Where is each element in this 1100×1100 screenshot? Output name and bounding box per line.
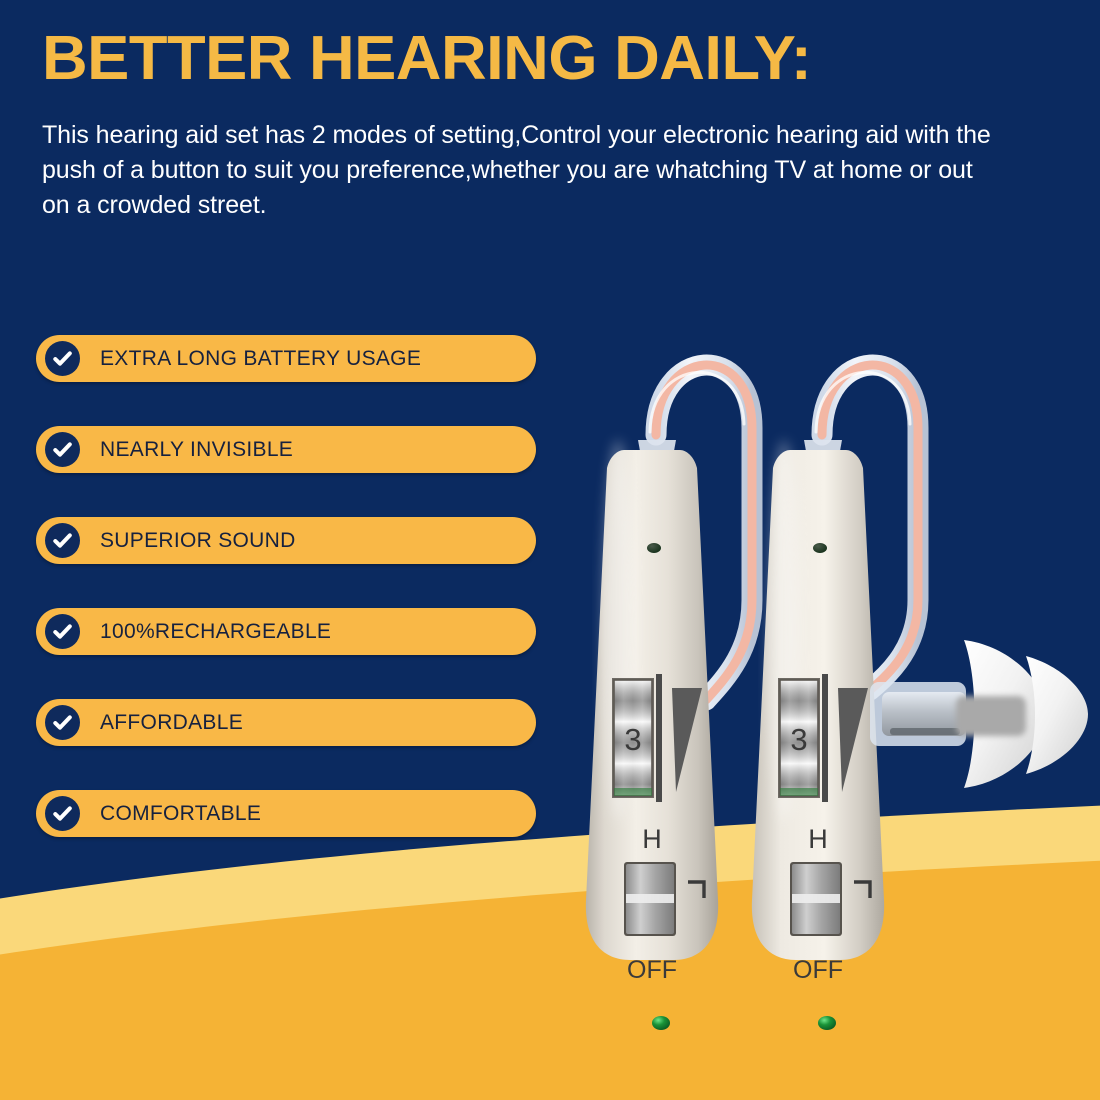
feature-pill-label: SUPERIOR SOUND (100, 529, 296, 553)
feature-pill-label: 100%RECHARGEABLE (100, 620, 331, 644)
feature-pill-label: NEARLY INVISIBLE (100, 438, 293, 462)
page-description: This hearing aid set has 2 modes of sett… (42, 118, 1002, 223)
microphone-port-icon (647, 543, 661, 553)
dome-inner (1026, 656, 1088, 774)
green-led-icon (652, 1016, 670, 1030)
check-icon (45, 432, 80, 467)
switch-label-h: H (642, 824, 662, 854)
check-icon (45, 341, 80, 376)
switch-label-off: OFF (627, 956, 677, 984)
microphone-port-icon (813, 543, 827, 553)
product-image: 3 H OFF (540, 300, 1100, 1040)
feature-pill-invisible: NEARLY INVISIBLE (36, 426, 536, 473)
check-icon (45, 705, 80, 740)
hearing-aid-device-left: 3 H OFF (586, 365, 752, 1030)
volume-level-value: 3 (624, 722, 641, 757)
feature-pill-battery: EXTRA LONG BATTERY USAGE (36, 335, 536, 382)
green-led-icon (818, 1016, 836, 1030)
feature-list: EXTRA LONG BATTERY USAGE NEARLY INVISIBL… (36, 335, 536, 837)
feature-pill-label: EXTRA LONG BATTERY USAGE (100, 347, 421, 371)
feature-pill-sound: SUPERIOR SOUND (36, 517, 536, 564)
switch-label-h: H (808, 824, 828, 854)
page-title: BETTER HEARING DAILY: (42, 28, 811, 90)
product-marketing-poster: BETTER HEARING DAILY: This hearing aid s… (0, 0, 1100, 1100)
feature-pill-affordable: AFFORDABLE (36, 699, 536, 746)
switch-label-off: OFF (793, 956, 843, 984)
check-icon (45, 614, 80, 649)
dome-stem (956, 696, 1026, 736)
feature-pill-rechargeable: 100%RECHARGEABLE (36, 608, 536, 655)
check-icon (45, 523, 80, 558)
volume-level-value: 3 (790, 722, 807, 757)
feature-pill-comfortable: COMFORTABLE (36, 790, 536, 837)
feature-pill-label: COMFORTABLE (100, 802, 261, 826)
feature-pill-label: AFFORDABLE (100, 711, 243, 735)
check-icon (45, 796, 80, 831)
